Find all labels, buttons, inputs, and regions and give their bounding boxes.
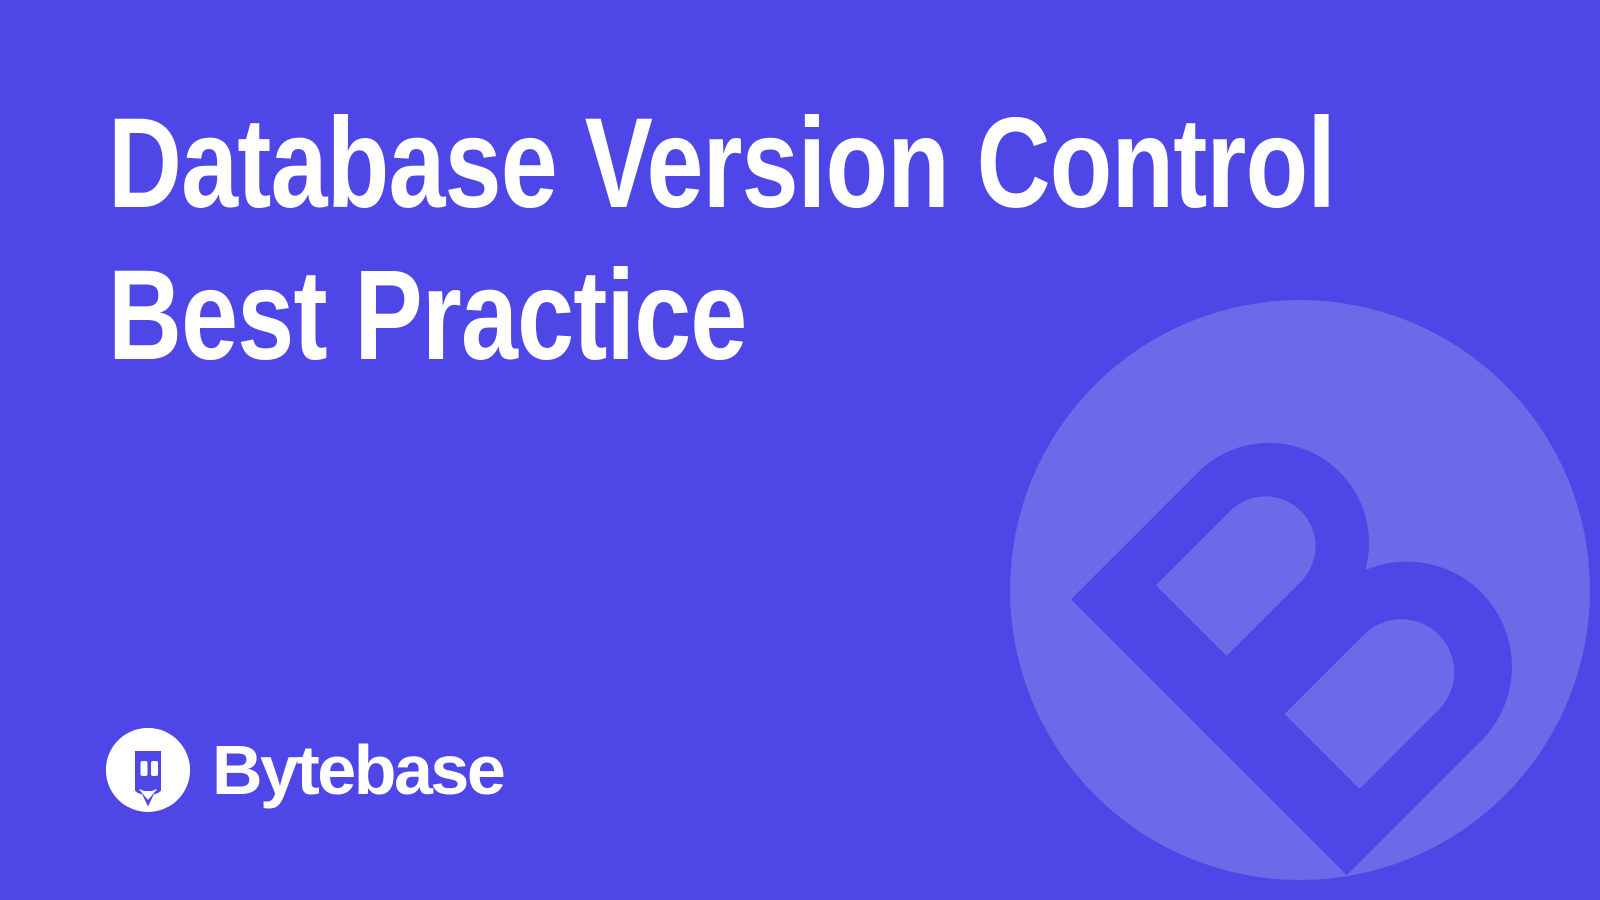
page-title: Database Version Control Best Practice [108, 88, 1468, 392]
bytebase-logo-icon [106, 728, 190, 812]
brand-name: Bytebase [212, 735, 503, 805]
title-line-1: Database Version Control [108, 88, 1196, 240]
social-card: Database Version Control Best Practice B… [0, 0, 1600, 900]
brand-lockup: Bytebase [106, 728, 503, 812]
title-line-2: Best Practice [108, 240, 1196, 392]
